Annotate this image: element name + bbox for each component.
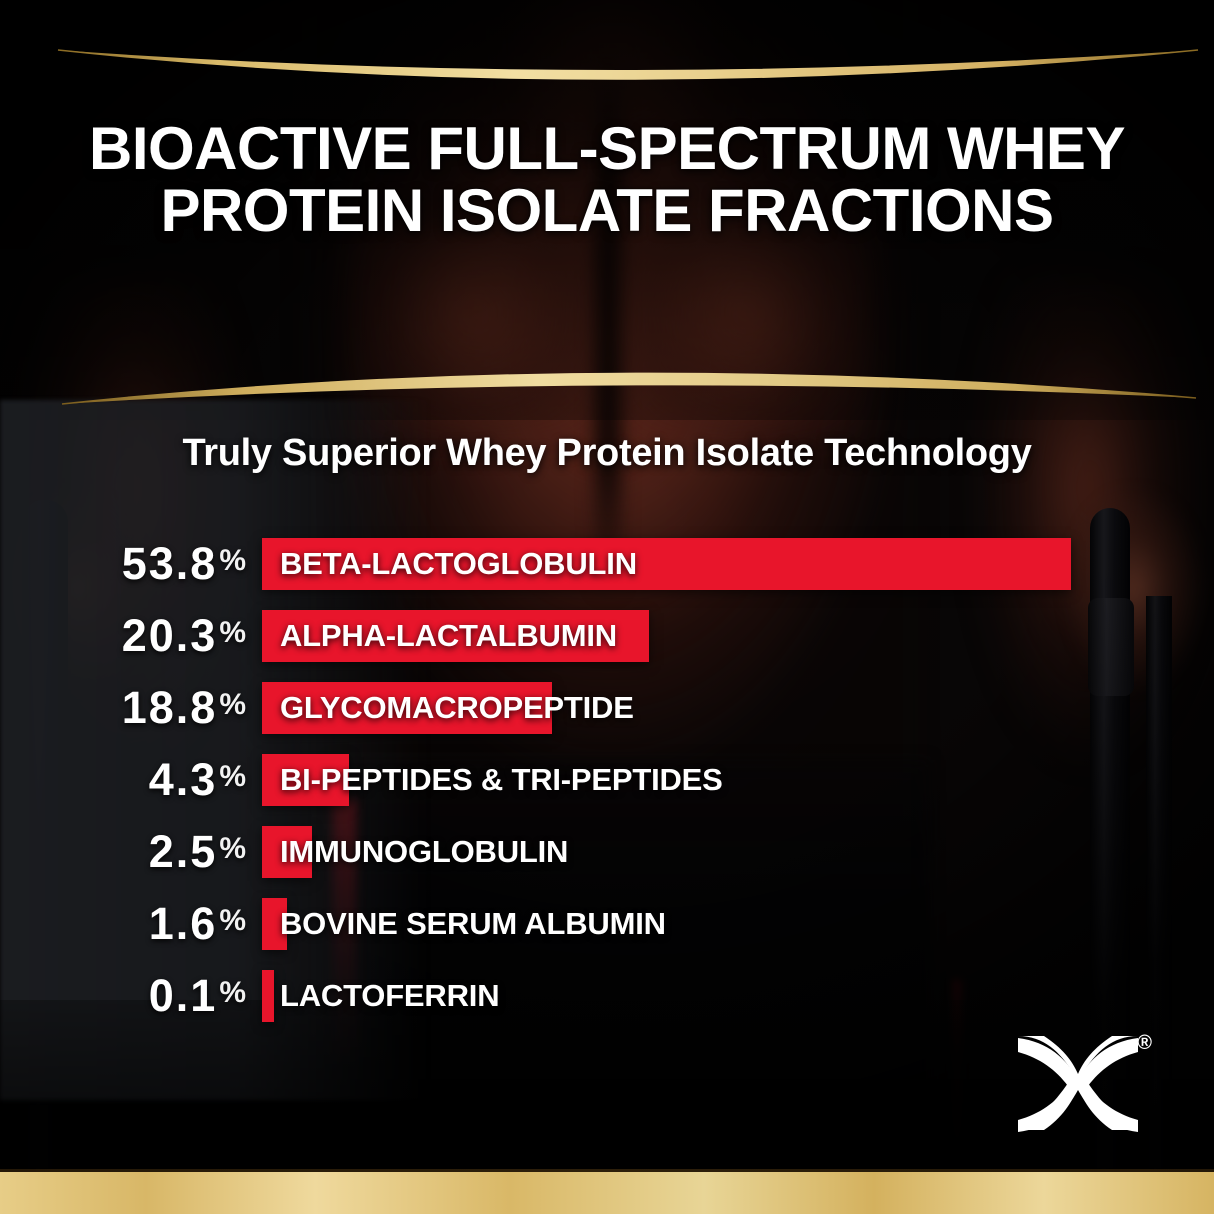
percentage-number: 2.5 (149, 829, 218, 874)
percentage-number: 20.3 (122, 613, 218, 658)
percent-sign: % (219, 688, 246, 721)
chart-row: 20.3%ALPHA-LACTALBUMIN (0, 600, 1214, 672)
brand-logo: ® (1014, 1030, 1146, 1142)
percent-sign: % (219, 976, 246, 1009)
percentage-number: 53.8 (122, 541, 218, 586)
bar-label: ALPHA-LACTALBUMIN (262, 618, 617, 654)
percent-sign: % (219, 904, 246, 937)
percentage-number: 18.8 (122, 685, 218, 730)
percentage-value: 4.3% (0, 757, 262, 803)
bar-track: GLYCOMACROPEPTIDE (262, 672, 1214, 744)
bar-track: ALPHA-LACTALBUMIN (262, 600, 1214, 672)
percentage-value: 20.3% (0, 613, 262, 659)
page-title: BIOACTIVE FULL-SPECTRUM WHEY PROTEIN ISO… (50, 118, 1164, 242)
bar-label: LACTOFERRIN (262, 978, 499, 1014)
chart-row: 2.5%IMMUNOGLOBULIN (0, 816, 1214, 888)
bottom-gold-band (0, 1172, 1214, 1214)
bar-label: BETA-LACTOGLOBULIN (262, 546, 637, 582)
bar-track: LACTOFERRIN (262, 960, 1214, 1032)
bar-label: BI-PEPTIDES & TRI-PEPTIDES (262, 762, 723, 798)
bar-track: BI-PEPTIDES & TRI-PEPTIDES (262, 744, 1214, 816)
bar-label: IMMUNOGLOBULIN (262, 834, 568, 870)
percent-sign: % (219, 616, 246, 649)
bar-track: IMMUNOGLOBULIN (262, 816, 1214, 888)
bar-track: BETA-LACTOGLOBULIN (262, 528, 1214, 600)
bar-label: BOVINE SERUM ALBUMIN (262, 906, 666, 942)
percentage-value: 2.5% (0, 829, 262, 875)
bar-track: BOVINE SERUM ALBUMIN (262, 888, 1214, 960)
page-subtitle: Truly Superior Whey Protein Isolate Tech… (50, 432, 1164, 475)
percentage-number: 4.3 (149, 757, 218, 802)
percentage-value: 18.8% (0, 685, 262, 731)
chart-row: 53.8%BETA-LACTOGLOBULIN (0, 528, 1214, 600)
chart-row: 4.3%BI-PEPTIDES & TRI-PEPTIDES (0, 744, 1214, 816)
bar-label: GLYCOMACROPEPTIDE (262, 690, 634, 726)
poster-canvas: BIOACTIVE FULL-SPECTRUM WHEY PROTEIN ISO… (0, 0, 1214, 1214)
protein-fraction-bar-chart: 53.8%BETA-LACTOGLOBULIN20.3%ALPHA-LACTAL… (0, 528, 1214, 1032)
percentage-value: 1.6% (0, 901, 262, 947)
chart-row: 0.1%LACTOFERRIN (0, 960, 1214, 1032)
registered-trademark-symbol: ® (1137, 1032, 1152, 1055)
percentage-number: 1.6 (149, 901, 218, 946)
chart-row: 18.8%GLYCOMACROPEPTIDE (0, 672, 1214, 744)
percentage-value: 53.8% (0, 541, 262, 587)
percentage-number: 0.1 (149, 973, 218, 1018)
chart-row: 1.6%BOVINE SERUM ALBUMIN (0, 888, 1214, 960)
percent-sign: % (219, 544, 246, 577)
percent-sign: % (219, 760, 246, 793)
x-logo-icon (1014, 1030, 1146, 1142)
percent-sign: % (219, 832, 246, 865)
percentage-value: 0.1% (0, 973, 262, 1019)
